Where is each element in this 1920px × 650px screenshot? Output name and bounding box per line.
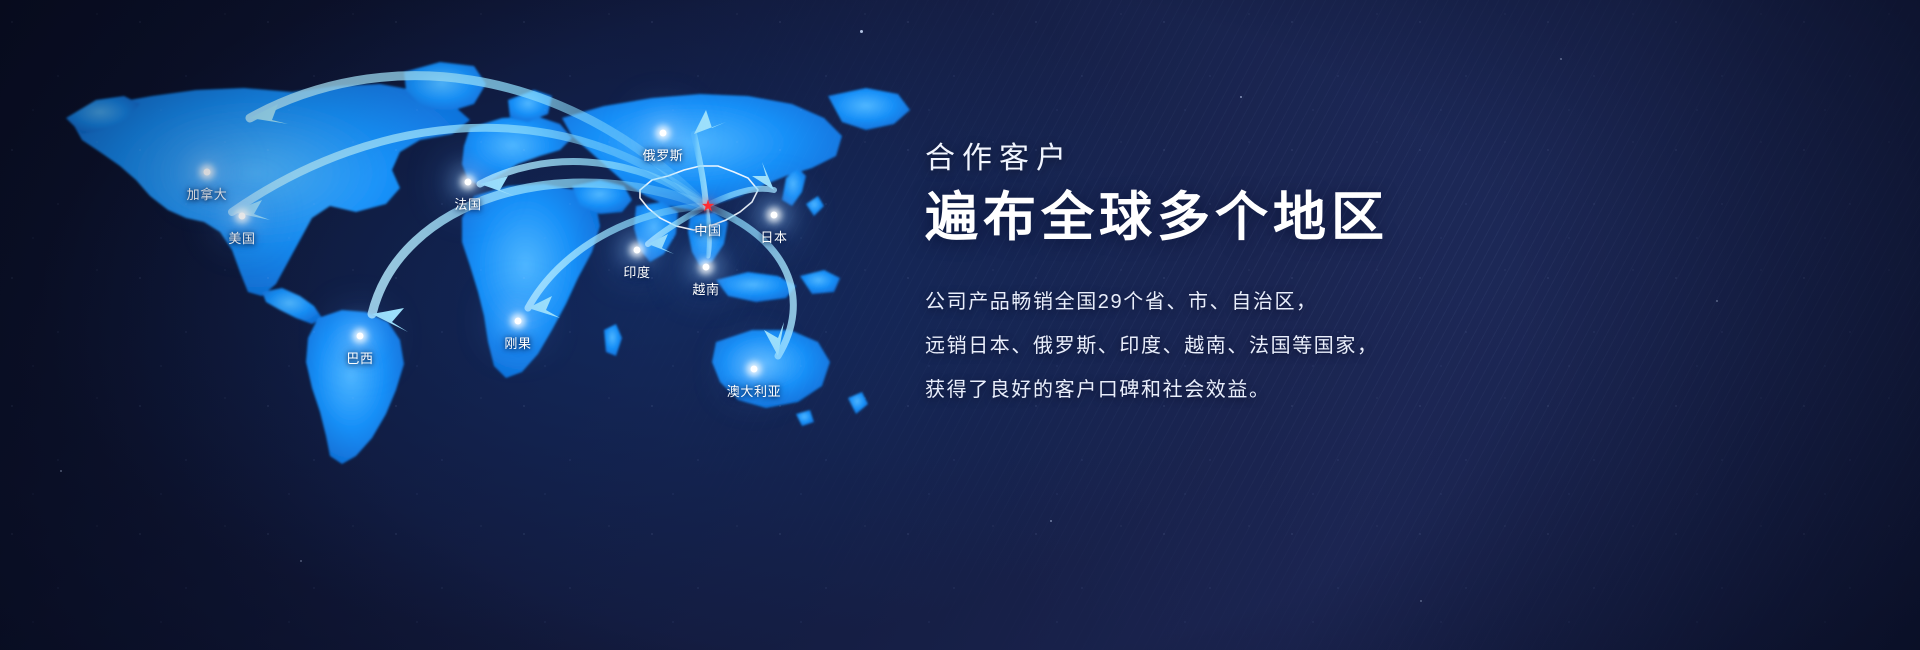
city-label: 巴西 bbox=[346, 348, 373, 367]
page-title: 遍布全球多个地区 bbox=[925, 186, 1825, 250]
city-label: 美国 bbox=[228, 228, 255, 247]
kicker-title: 合作客户 bbox=[925, 140, 1825, 178]
city-label: 中国 bbox=[694, 220, 721, 239]
city-dot bbox=[751, 366, 758, 373]
copy-panel: 合作客户 遍布全球多个地区 公司产品畅销全国29个省、市、自治区， 远销日本、俄… bbox=[925, 140, 1825, 406]
city-label: 印度 bbox=[623, 262, 650, 281]
city-dot bbox=[465, 179, 472, 186]
city-dot bbox=[515, 318, 522, 325]
description-line: 获得了良好的客户口碑和社会效益。 bbox=[925, 375, 1825, 406]
city-dot bbox=[239, 213, 246, 220]
world-map-banner: 加拿大 美国 巴西 法国 俄罗斯 ★ 中国 日本 印度 bbox=[0, 0, 1920, 650]
description-line: 公司产品畅销全国29个省、市、自治区， bbox=[925, 287, 1825, 318]
city-dot bbox=[660, 130, 667, 137]
city-label: 越南 bbox=[692, 279, 719, 298]
description-block: 公司产品畅销全国29个省、市、自治区， 远销日本、俄罗斯、印度、越南、法国等国家… bbox=[925, 287, 1825, 406]
world-map: 加拿大 美国 巴西 法国 俄罗斯 ★ 中国 日本 印度 bbox=[0, 0, 1000, 650]
city-dot bbox=[204, 169, 211, 176]
city-label: 法国 bbox=[454, 194, 481, 213]
city-label: 刚果 bbox=[504, 333, 531, 352]
city-label: 澳大利亚 bbox=[727, 381, 781, 400]
city-label: 加拿大 bbox=[187, 184, 228, 203]
city-dot bbox=[357, 333, 364, 340]
city-dot bbox=[703, 264, 710, 271]
red-star-icon: ★ bbox=[701, 199, 715, 215]
description-line: 远销日本、俄罗斯、印度、越南、法国等国家， bbox=[925, 331, 1825, 362]
city-label: 俄罗斯 bbox=[643, 145, 684, 164]
city-label: 日本 bbox=[760, 227, 787, 246]
city-dot bbox=[771, 212, 778, 219]
city-dot bbox=[634, 247, 641, 254]
